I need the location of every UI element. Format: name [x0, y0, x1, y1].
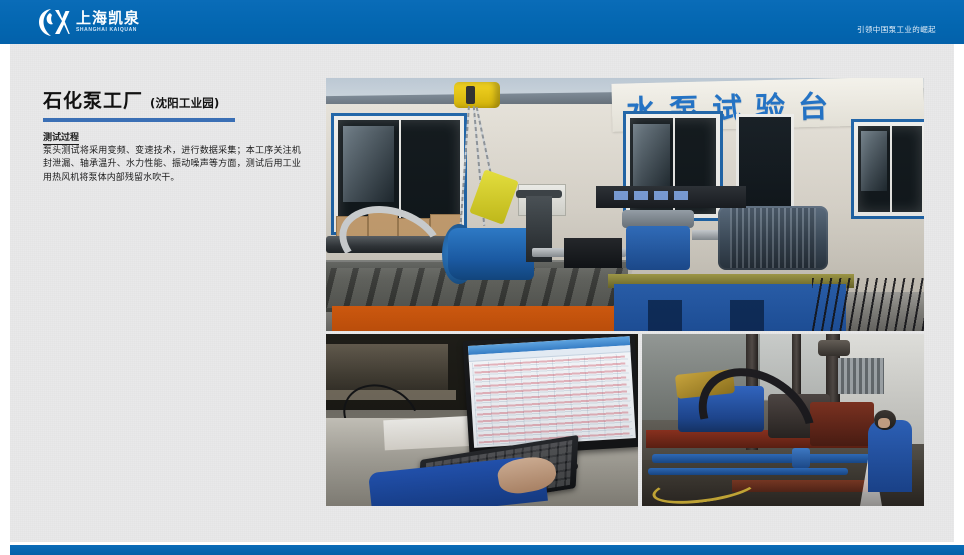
- photo-collage: 水泵试验台: [326, 78, 924, 506]
- page-title: 石化泵工厂 (沈阳工业园): [43, 86, 303, 122]
- window-glare: [633, 124, 669, 191]
- slide-root: 上海凯泉 SHANGHAI KAIQUAN 引领中国泵工业的崛起 石化泵工厂 (…: [0, 0, 964, 555]
- blue-pipeline: [652, 454, 882, 463]
- worker-body: [868, 420, 912, 492]
- shaft-coupling: [564, 238, 622, 268]
- brand-logo-text: 上海凯泉 SHANGHAI KAIQUAN: [76, 11, 140, 33]
- page-footer-band: [10, 545, 964, 555]
- monitor-screen: [468, 336, 636, 448]
- chain-hoist-icon: [454, 82, 500, 108]
- brand-name-cn: 上海凯泉: [76, 11, 140, 26]
- top-valve: [818, 340, 850, 356]
- body-paragraph: 泵头测试将采用变频、变速技术，进行数据采集；本工序关注机封泄漏、轴承温升、水力性…: [43, 145, 301, 185]
- body-text: 泵头测试将采用变频、变速技术，进行数据采集；本工序关注机封泄漏、轴承温升、水力性…: [43, 145, 301, 185]
- centrifugal-pump: [448, 228, 534, 280]
- instrument-cabinet: [596, 186, 746, 208]
- window-right: [854, 122, 924, 216]
- motor-cooling-fins: [730, 208, 816, 268]
- footer-spacer: [0, 542, 964, 545]
- title-main: 石化泵工厂: [43, 86, 143, 113]
- cable-bundle: [812, 278, 924, 331]
- page-header: 上海凯泉 SHANGHAI KAIQUAN 引领中国泵工业的崛起: [0, 0, 964, 44]
- brand-logo[interactable]: 上海凯泉 SHANGHAI KAIQUAN: [38, 7, 140, 37]
- red-pump-casing: [810, 402, 874, 446]
- paper-sheet: [383, 416, 476, 451]
- brand-name-en: SHANGHAI KAIQUAN: [76, 28, 140, 33]
- orange-base-frame: [332, 306, 624, 331]
- photo-data-acquisition[interactable]: [326, 334, 638, 506]
- kaiquan-logo-icon: [38, 7, 70, 37]
- window-mullion: [890, 126, 892, 212]
- heat-exchanger: [838, 358, 884, 394]
- photo-pump-test-bench[interactable]: 水泵试验台: [326, 78, 924, 331]
- section-heading: 测试过程: [43, 130, 79, 145]
- title-row: 石化泵工厂 (沈阳工业园): [43, 86, 303, 113]
- pipe-flange: [792, 448, 810, 468]
- title-subtitle: (沈阳工业园): [150, 95, 219, 111]
- slide-canvas: 石化泵工厂 (沈阳工业园) 测试过程 泵头测试将采用变频、变速技术，进行数据采集…: [10, 44, 954, 542]
- worker-face: [878, 418, 890, 428]
- window-glare: [343, 126, 394, 202]
- torque-transducer: [626, 226, 690, 270]
- screen-data-values: [474, 355, 630, 443]
- photo-field-test-skid[interactable]: [642, 334, 924, 506]
- header-slogan: 引领中国泵工业的崛起: [857, 24, 936, 35]
- window-glare: [861, 131, 888, 191]
- title-underline-rule: [43, 118, 235, 122]
